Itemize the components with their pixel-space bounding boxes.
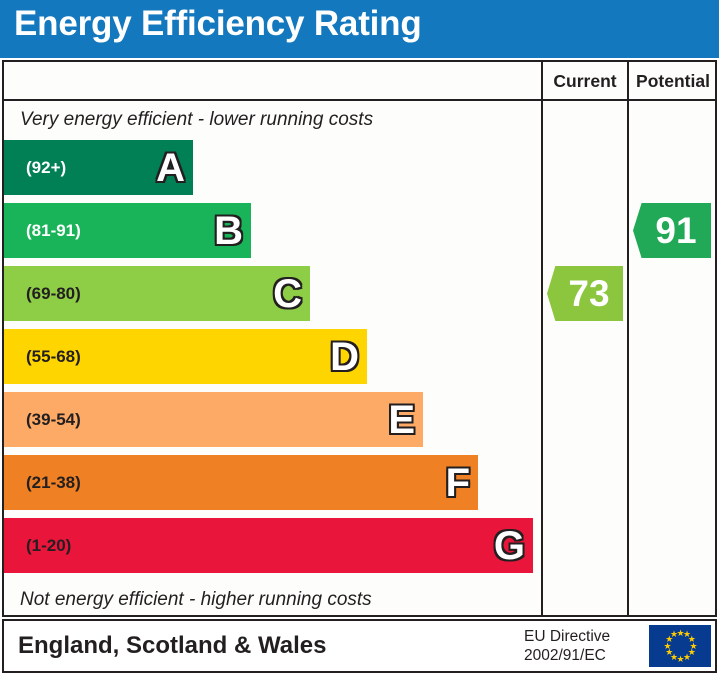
band-range-label: (39-54): [26, 410, 81, 430]
eu-star-icon: ★: [670, 631, 677, 638]
directive-line-2: 2002/91/EC: [524, 646, 610, 665]
band-row-a: (92+)A: [4, 140, 193, 195]
band-row-g: (1-20)G: [4, 518, 533, 573]
footer-bar: England, Scotland & Wales EU Directive 2…: [2, 619, 717, 673]
epc-certificate: Energy Efficiency Rating Current Potenti…: [0, 0, 719, 675]
current-rating-marker: 73: [547, 266, 623, 321]
eu-flag-icon: ★★★★★★★★★★★★: [649, 625, 711, 667]
band-range-label: (1-20): [26, 536, 71, 556]
page-title: Energy Efficiency Rating: [14, 4, 422, 44]
band-letter: D: [330, 337, 359, 377]
header-separator: [2, 99, 717, 101]
band-letter: F: [446, 463, 470, 503]
title-bar: Energy Efficiency Rating: [0, 0, 719, 58]
column-header-potential: Potential: [629, 69, 717, 93]
band-range-label: (55-68): [26, 347, 81, 367]
directive-line-1: EU Directive: [524, 627, 610, 646]
band-row-e: (39-54)E: [4, 392, 423, 447]
band-letter: A: [156, 148, 185, 188]
band-letter: C: [273, 274, 302, 314]
band-range-label: (21-38): [26, 473, 81, 493]
caption-efficient: Very energy efficient - lower running co…: [20, 109, 373, 131]
band-row-b: (81-91)B: [4, 203, 251, 258]
band-row-c: (69-80)C: [4, 266, 310, 321]
band-row-f: (21-38)F: [4, 455, 478, 510]
band-letter: B: [214, 211, 243, 251]
band-range-label: (69-80): [26, 284, 81, 304]
caption-inefficient: Not energy efficient - higher running co…: [20, 589, 372, 611]
band-letter: E: [388, 400, 415, 440]
column-divider-potential: [627, 60, 629, 617]
band-range-label: (81-91): [26, 221, 81, 241]
potential-rating-marker: 91: [633, 203, 711, 258]
band-row-d: (55-68)D: [4, 329, 367, 384]
band-range-label: (92+): [26, 158, 66, 178]
band-letter: G: [494, 526, 525, 566]
footer-region-label: England, Scotland & Wales: [18, 632, 326, 660]
footer-directive: EU Directive 2002/91/EC: [524, 627, 610, 665]
column-divider-current: [541, 60, 543, 617]
column-header-current: Current: [543, 69, 627, 93]
